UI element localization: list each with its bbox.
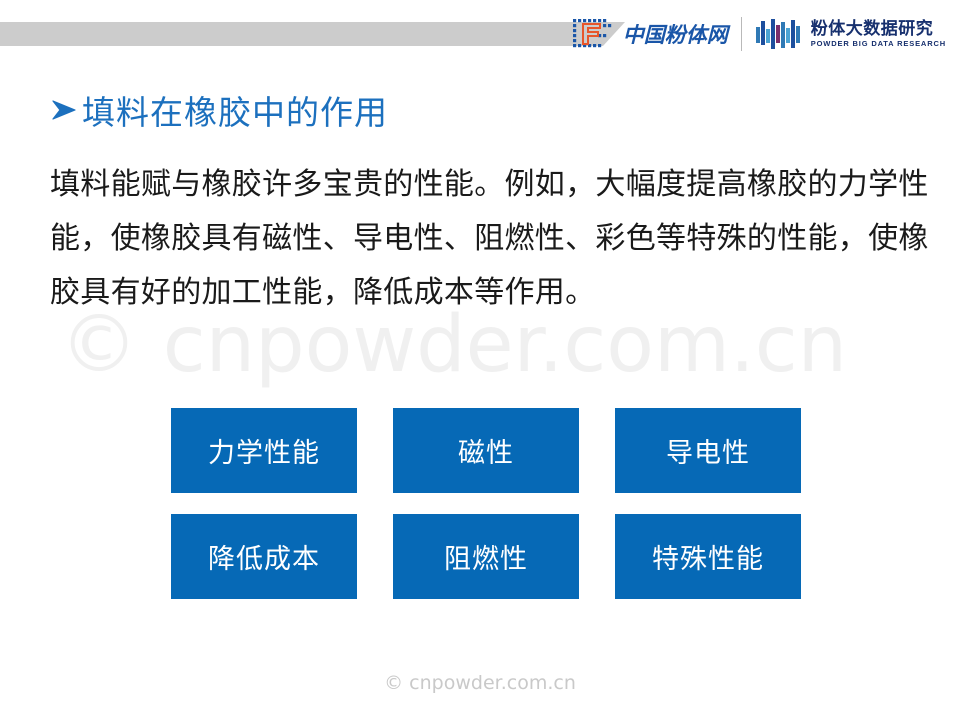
powder-bigdata-logo: 粉体大数据研究 POWDER BIG DATA RESEARCH [742,17,946,51]
arrow-bullet-icon [50,93,80,127]
property-box[interactable]: 磁性 [393,408,579,493]
powder-bigdata-title-cn: 粉体大数据研究 [811,21,946,38]
page-title: 填料在橡胶中的作用 [50,86,388,134]
property-box[interactable]: 特殊性能 [615,514,801,599]
logo-area: 中国粉体网 粉体大数据研究 POWDER BIG DATA [572,10,946,58]
property-box[interactable]: 阻燃性 [393,514,579,599]
header-decorative-band [0,22,625,46]
footer-watermark: © cnpowder.com.cn [0,672,960,694]
property-box[interactable]: 力学性能 [171,408,357,493]
body-paragraph: 填料能赋与橡胶许多宝贵的性能。例如，大幅度提高橡胶的力学性能，使橡胶具有磁性、导… [50,158,935,320]
slide-canvas: 中国粉体网 粉体大数据研究 POWDER BIG DATA [0,0,960,720]
property-box[interactable]: 导电性 [615,408,801,493]
cnpowder-logo-text: 中国粉体网 [623,19,728,49]
powder-bigdata-text-block: 粉体大数据研究 POWDER BIG DATA RESEARCH [811,21,946,48]
bar-chart-logo-icon [756,17,804,51]
property-box-grid: 力学性能 磁性 导电性 降低成本 阻燃性 特殊性能 [171,408,802,599]
powder-bigdata-title-en: POWDER BIG DATA RESEARCH [811,40,946,48]
cnpowder-pixel-logo-icon [572,17,618,51]
property-box[interactable]: 降低成本 [171,514,357,599]
cnpowder-logo: 中国粉体网 [572,17,741,51]
page-title-text: 填料在橡胶中的作用 [82,86,388,134]
